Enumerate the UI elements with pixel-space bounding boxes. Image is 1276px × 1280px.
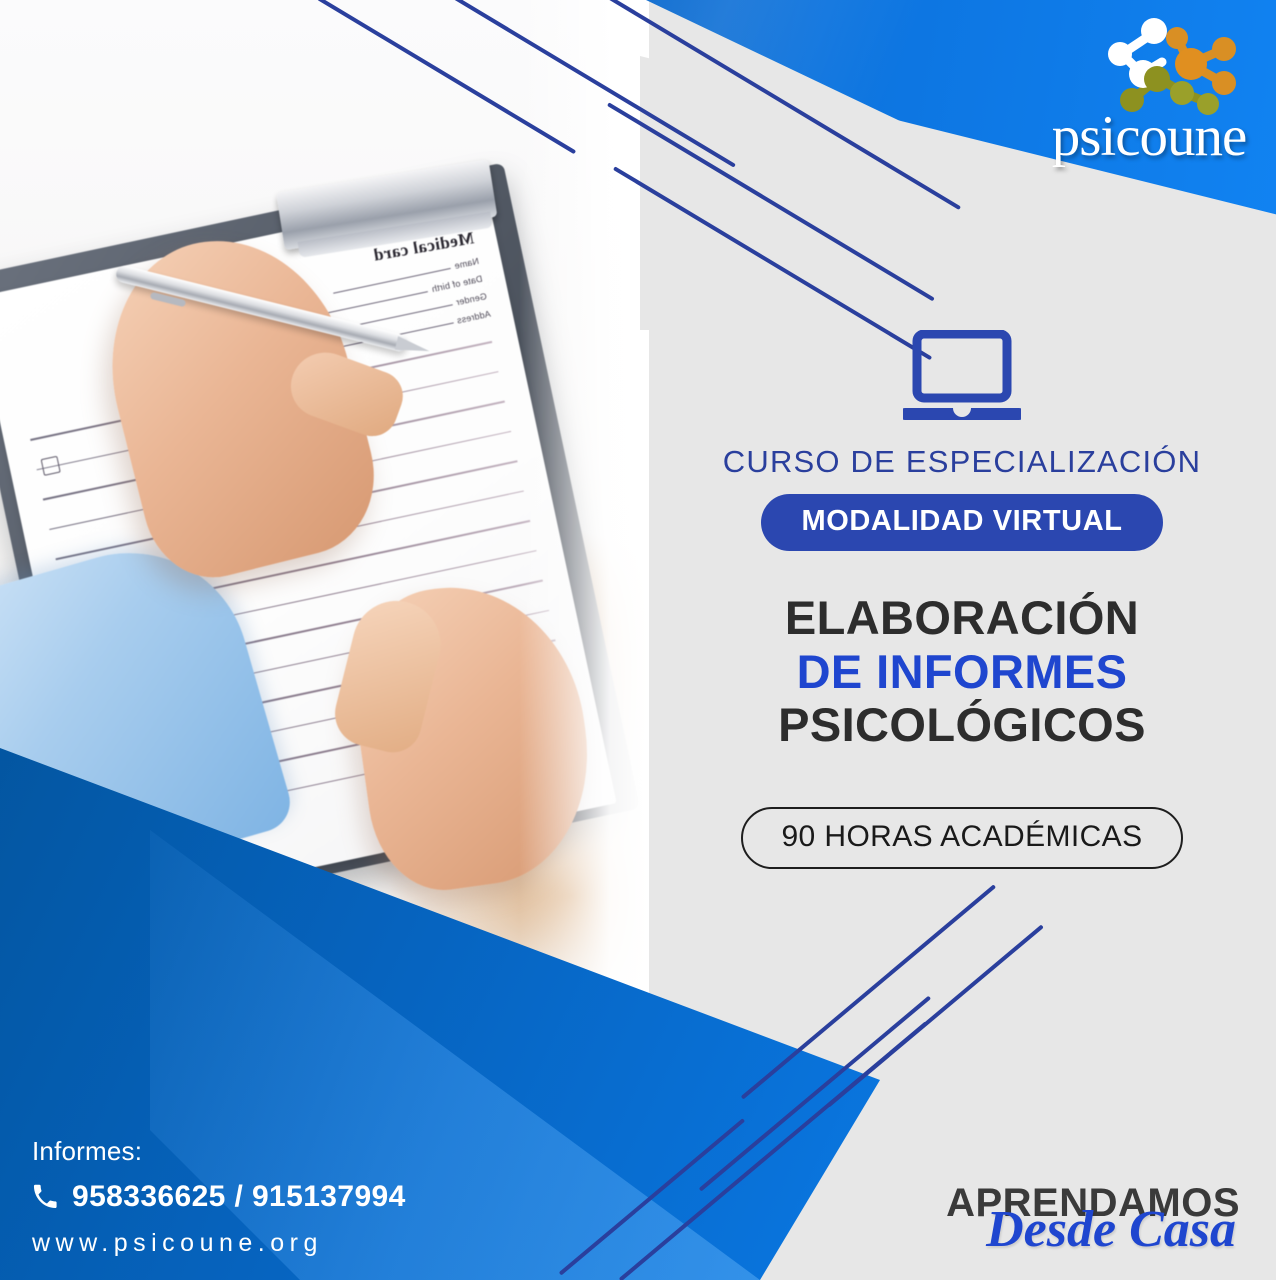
tagline: APRENDAMOS Desde Casa [946, 1183, 1240, 1254]
contact-block: Informes: 958336625 / 915137994 www.psic… [32, 1136, 406, 1258]
page-title: ELABORACIÓN DE INFORMES PSICOLÓGICOS [778, 591, 1146, 752]
title-line-3: PSICOLÓGICOS [778, 698, 1146, 752]
main-content: CURSO DE ESPECIALIZACIÓN MODALIDAD VIRTU… [648, 0, 1276, 1280]
hours-badge[interactable]: 90 HORAS ACADÉMICAS [741, 807, 1182, 869]
laptop-icon [903, 330, 1021, 422]
form-field-gender: Gender [455, 291, 488, 307]
title-line-2: DE INFORMES [778, 645, 1146, 699]
contact-label: Informes: [32, 1136, 406, 1167]
website-url[interactable]: www.psicoune.org [32, 1229, 406, 1258]
modality-badge[interactable]: MODALIDAD VIRTUAL [761, 494, 1162, 551]
phone-numbers: 958336625 / 915137994 [72, 1180, 406, 1214]
course-kicker: CURSO DE ESPECIALIZACIÓN [723, 444, 1201, 480]
tagline-bottom: Desde Casa [946, 1207, 1236, 1254]
phone-row[interactable]: 958336625 / 915137994 [32, 1180, 406, 1214]
title-line-1: ELABORACIÓN [778, 591, 1146, 645]
form-field-address: Address [455, 309, 491, 326]
phone-icon [32, 1184, 58, 1210]
form-field-name: Name [454, 256, 480, 271]
promo-poster: Medical card Name Date of birth Gender A… [0, 0, 1276, 1280]
form-field-dob: Date of birth [431, 274, 484, 295]
